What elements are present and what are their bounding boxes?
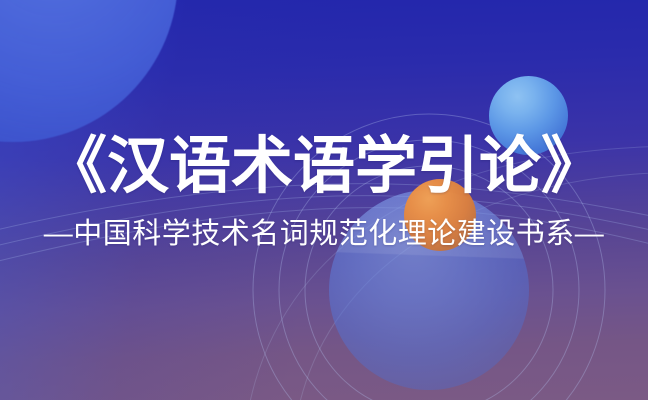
banner-title: 《汉语术语学引论》 [45, 136, 603, 198]
book-series-banner: 《汉语术语学引论》 —中国科学技术名词规范化理论建设书系— [0, 0, 648, 400]
banner-subtitle: —中国科学技术名词规范化理论建设书系— [44, 220, 605, 249]
banner-text-block: 《汉语术语学引论》 —中国科学技术名词规范化理论建设书系— [0, 0, 648, 400]
